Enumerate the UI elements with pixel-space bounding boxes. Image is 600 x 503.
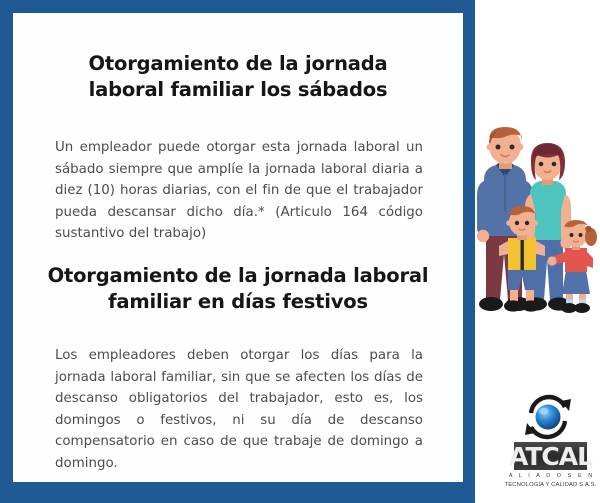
svg-text:ATCAL: ATCAL <box>509 442 593 471</box>
logo-tagline-line-2: TECNOLOGÍA Y CALIDAD S.A.S. <box>503 482 598 488</box>
poster-canvas: Otorgamiento de la jornada laboral famil… <box>0 0 600 503</box>
section-heading-saturdays: Otorgamiento de la jornada laboral famil… <box>56 51 420 103</box>
section-paragraph-saturdays: Un empleador puede otorgar esta jornada … <box>55 137 423 245</box>
section-heading-holidays: Otorgamiento de la jornada laboral famil… <box>42 263 434 315</box>
content-card-inner: Otorgamiento de la jornada laboral famil… <box>42 13 434 482</box>
atcal-logo: ATCAL A L I A D O S E N TECNOLOGÍA Y CAL… <box>503 394 598 494</box>
atcal-wordmark: ATCAL <box>503 440 598 472</box>
family-of-four-illustration <box>474 124 600 322</box>
section-paragraph-holidays: Los empleadores deben otorgar los días p… <box>55 345 423 474</box>
logo-tagline-line-1: A L I A D O S E N <box>503 473 598 479</box>
atcal-logo-mark-icon <box>511 394 585 440</box>
content-card: Otorgamiento de la jornada laboral famil… <box>13 13 463 482</box>
